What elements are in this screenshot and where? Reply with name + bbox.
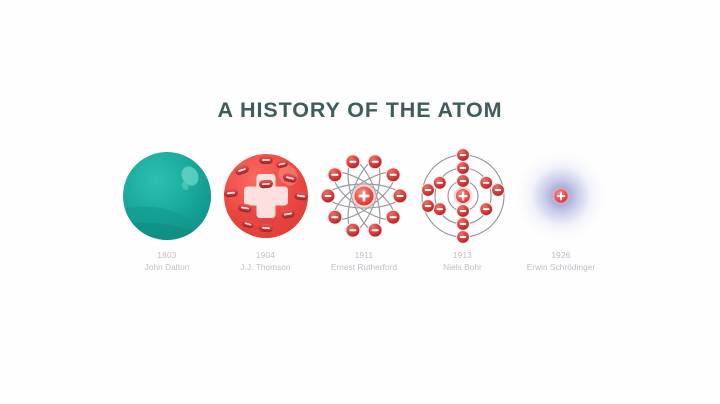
bohr-shell-model [415, 148, 511, 244]
timeline-item-schrodinger[interactable]: 1926 Erwin Schrödinger [512, 148, 610, 274]
schrodinger-person: Erwin Schrödinger [527, 263, 596, 274]
rutherford-caption: 1911 Ernest Rutherford [331, 251, 397, 274]
bohr-caption: 1913 Niels Bohr [443, 251, 482, 274]
timeline-item-rutherford[interactable]: 1911 Ernest Rutherford [315, 148, 413, 274]
nucleus [453, 187, 472, 206]
rutherford-nuclear-model [316, 148, 412, 244]
schrodinger-caption: 1926 Erwin Schrödinger [527, 251, 596, 274]
bohr-person: Niels Bohr [443, 263, 482, 274]
thomson-plum-pudding-model [218, 148, 314, 244]
timeline-item-thomson[interactable]: 1904 J.J. Thomson [217, 148, 315, 274]
dalton-solid-sphere-model [119, 148, 215, 244]
rutherford-person: Ernest Rutherford [331, 263, 397, 274]
bohr-year: 1913 [443, 251, 482, 262]
timeline-item-bohr[interactable]: 1913 Niels Bohr [414, 148, 512, 274]
dalton-person: John Dalton [145, 263, 190, 274]
infographic-canvas: A HISTORY OF THE ATOM [0, 0, 720, 404]
atom-model-timeline: 1803 John Dalton [118, 148, 610, 293]
nucleus [552, 187, 570, 205]
dalton-caption: 1803 John Dalton [145, 251, 190, 274]
thomson-person: J.J. Thomson [240, 263, 290, 274]
thomson-caption: 1904 J.J. Thomson [240, 251, 290, 274]
timeline-item-dalton[interactable]: 1803 John Dalton [118, 148, 216, 274]
schrodinger-electron-cloud-model [513, 148, 609, 244]
rutherford-year: 1911 [331, 251, 397, 262]
thomson-year: 1904 [240, 251, 290, 262]
schrodinger-year: 1926 [527, 251, 596, 262]
dalton-year: 1803 [145, 251, 190, 262]
page-title: A HISTORY OF THE ATOM [0, 98, 720, 123]
nucleus [352, 184, 377, 209]
